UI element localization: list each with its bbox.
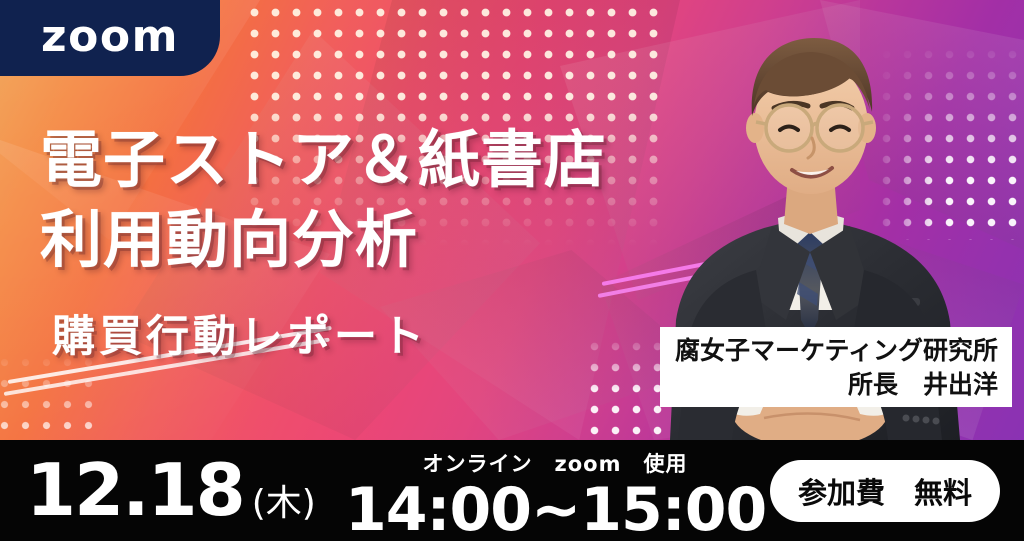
event-time-range: 14:00~15:00 [345, 478, 765, 541]
event-time-block: オンライン zoom 使用 14:00~15:00 [345, 440, 765, 541]
headline-group: 電子ストア＆紙書店 利用動向分析 購買行動レポート [40, 120, 607, 366]
footer-bar: 12.18 (木) オンライン zoom 使用 14:00~15:00 参加費 … [0, 440, 1024, 541]
speaker-info-plate: 腐女子マーケティング研究所 所長 井出洋 [660, 327, 1012, 407]
zoom-wordmark: zoom [41, 15, 179, 59]
webinar-banner: zoom 電子ストア＆紙書店 利用動向分析 購買行動レポート 腐女子マーケティン… [0, 0, 1024, 541]
title-line-1: 電子ストア＆紙書店 [40, 120, 607, 200]
title-line-2: 利用動向分析 [40, 200, 607, 280]
event-date-block: 12.18 (木) [26, 448, 316, 541]
event-date: 12.18 [26, 448, 244, 532]
fee-badge: 参加費 無料 [770, 460, 1000, 522]
event-day-of-week: (木) [252, 462, 316, 541]
speaker-organization: 腐女子マーケティング研究所 [675, 334, 998, 368]
zoom-logo: zoom [0, 0, 220, 76]
speaker-name: 所長 井出洋 [848, 368, 998, 402]
fee-badge-label: 参加費 無料 [798, 470, 972, 512]
platform-label: オンライン zoom 使用 [345, 450, 765, 478]
subtitle: 購買行動レポート [52, 308, 607, 366]
